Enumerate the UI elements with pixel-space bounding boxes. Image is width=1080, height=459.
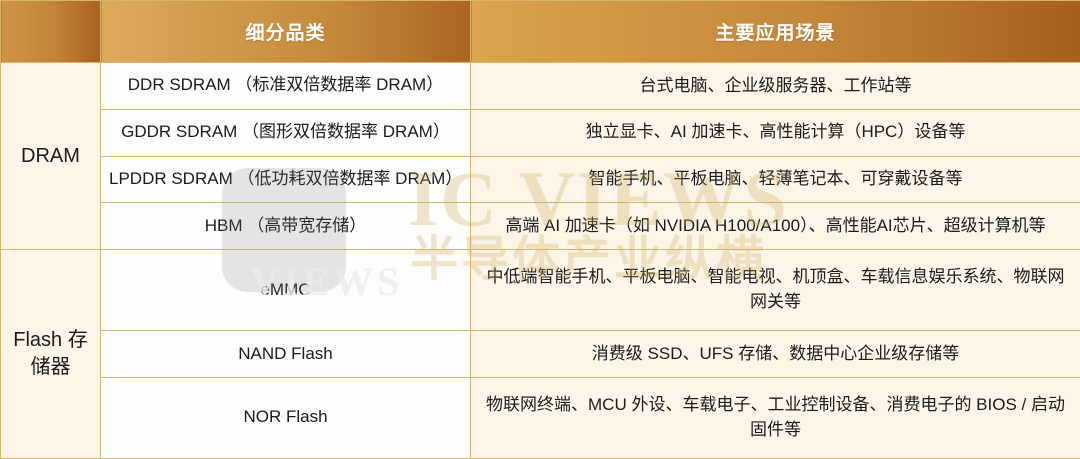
table-header: 细分品类 主要应用场景 xyxy=(1,1,1080,63)
header-scenario: 主要应用场景 xyxy=(471,1,1080,63)
scenario-emmc: 中低端智能手机、平板电脑、智能电视、机顶盒、车载信息娱乐系统、物联网网关等 xyxy=(471,250,1080,331)
table-row: GDDR SDRAM （图形双倍数据率 DRAM） 独立显卡、AI 加速卡、高性… xyxy=(1,109,1080,156)
table-body: DRAM DDR SDRAM （标准双倍数据率 DRAM） 台式电脑、企业级服务… xyxy=(1,63,1080,459)
subcategory-nand-flash: NAND Flash xyxy=(101,331,471,378)
scenario-ddr-sdram: 台式电脑、企业级服务器、工作站等 xyxy=(471,63,1080,110)
group-label-dram: DRAM xyxy=(1,63,101,250)
subcategory-hbm: HBM （高带宽存储） xyxy=(101,203,471,250)
table-row: Flash 存储器 eMMC 中低端智能手机、平板电脑、智能电视、机顶盒、车载信… xyxy=(1,250,1080,331)
scenario-gddr-sdram: 独立显卡、AI 加速卡、高性能计算（HPC）设备等 xyxy=(471,109,1080,156)
header-category: 细分品类 xyxy=(101,1,471,63)
subcategory-ddr-sdram: DDR SDRAM （标准双倍数据率 DRAM） xyxy=(101,63,471,110)
memory-comparison-table-root: IC VIEWS 半导体产业纵横 VIEWS 细分品类 主要应用场景 DRAM … xyxy=(0,0,1080,459)
memory-comparison-table: 细分品类 主要应用场景 DRAM DDR SDRAM （标准双倍数据率 DRAM… xyxy=(0,0,1080,459)
subcategory-emmc: eMMC xyxy=(101,250,471,331)
table-header-row: 细分品类 主要应用场景 xyxy=(1,1,1080,63)
table-row: NOR Flash 物联网终端、MCU 外设、车载电子、工业控制设备、消费电子的… xyxy=(1,377,1080,458)
table-row: NAND Flash 消费级 SSD、UFS 存储、数据中心企业级存储等 xyxy=(1,331,1080,378)
table-row: DRAM DDR SDRAM （标准双倍数据率 DRAM） 台式电脑、企业级服务… xyxy=(1,63,1080,110)
group-label-flash: Flash 存储器 xyxy=(1,250,101,459)
table-row: LPDDR SDRAM （低功耗双倍数据率 DRAM） 智能手机、平板电脑、轻薄… xyxy=(1,156,1080,203)
subcategory-lpddr-sdram: LPDDR SDRAM （低功耗双倍数据率 DRAM） xyxy=(101,156,471,203)
scenario-nand-flash: 消费级 SSD、UFS 存储、数据中心企业级存储等 xyxy=(471,331,1080,378)
subcategory-gddr-sdram: GDDR SDRAM （图形双倍数据率 DRAM） xyxy=(101,109,471,156)
table-row: HBM （高带宽存储） 高端 AI 加速卡（如 NVIDIA H100/A100… xyxy=(1,203,1080,250)
subcategory-nor-flash: NOR Flash xyxy=(101,377,471,458)
scenario-hbm: 高端 AI 加速卡（如 NVIDIA H100/A100）、高性能AI芯片、超级… xyxy=(471,203,1080,250)
scenario-nor-flash: 物联网终端、MCU 外设、车载电子、工业控制设备、消费电子的 BIOS / 启动… xyxy=(471,377,1080,458)
header-blank-cell xyxy=(1,1,101,63)
scenario-lpddr-sdram: 智能手机、平板电脑、轻薄笔记本、可穿戴设备等 xyxy=(471,156,1080,203)
